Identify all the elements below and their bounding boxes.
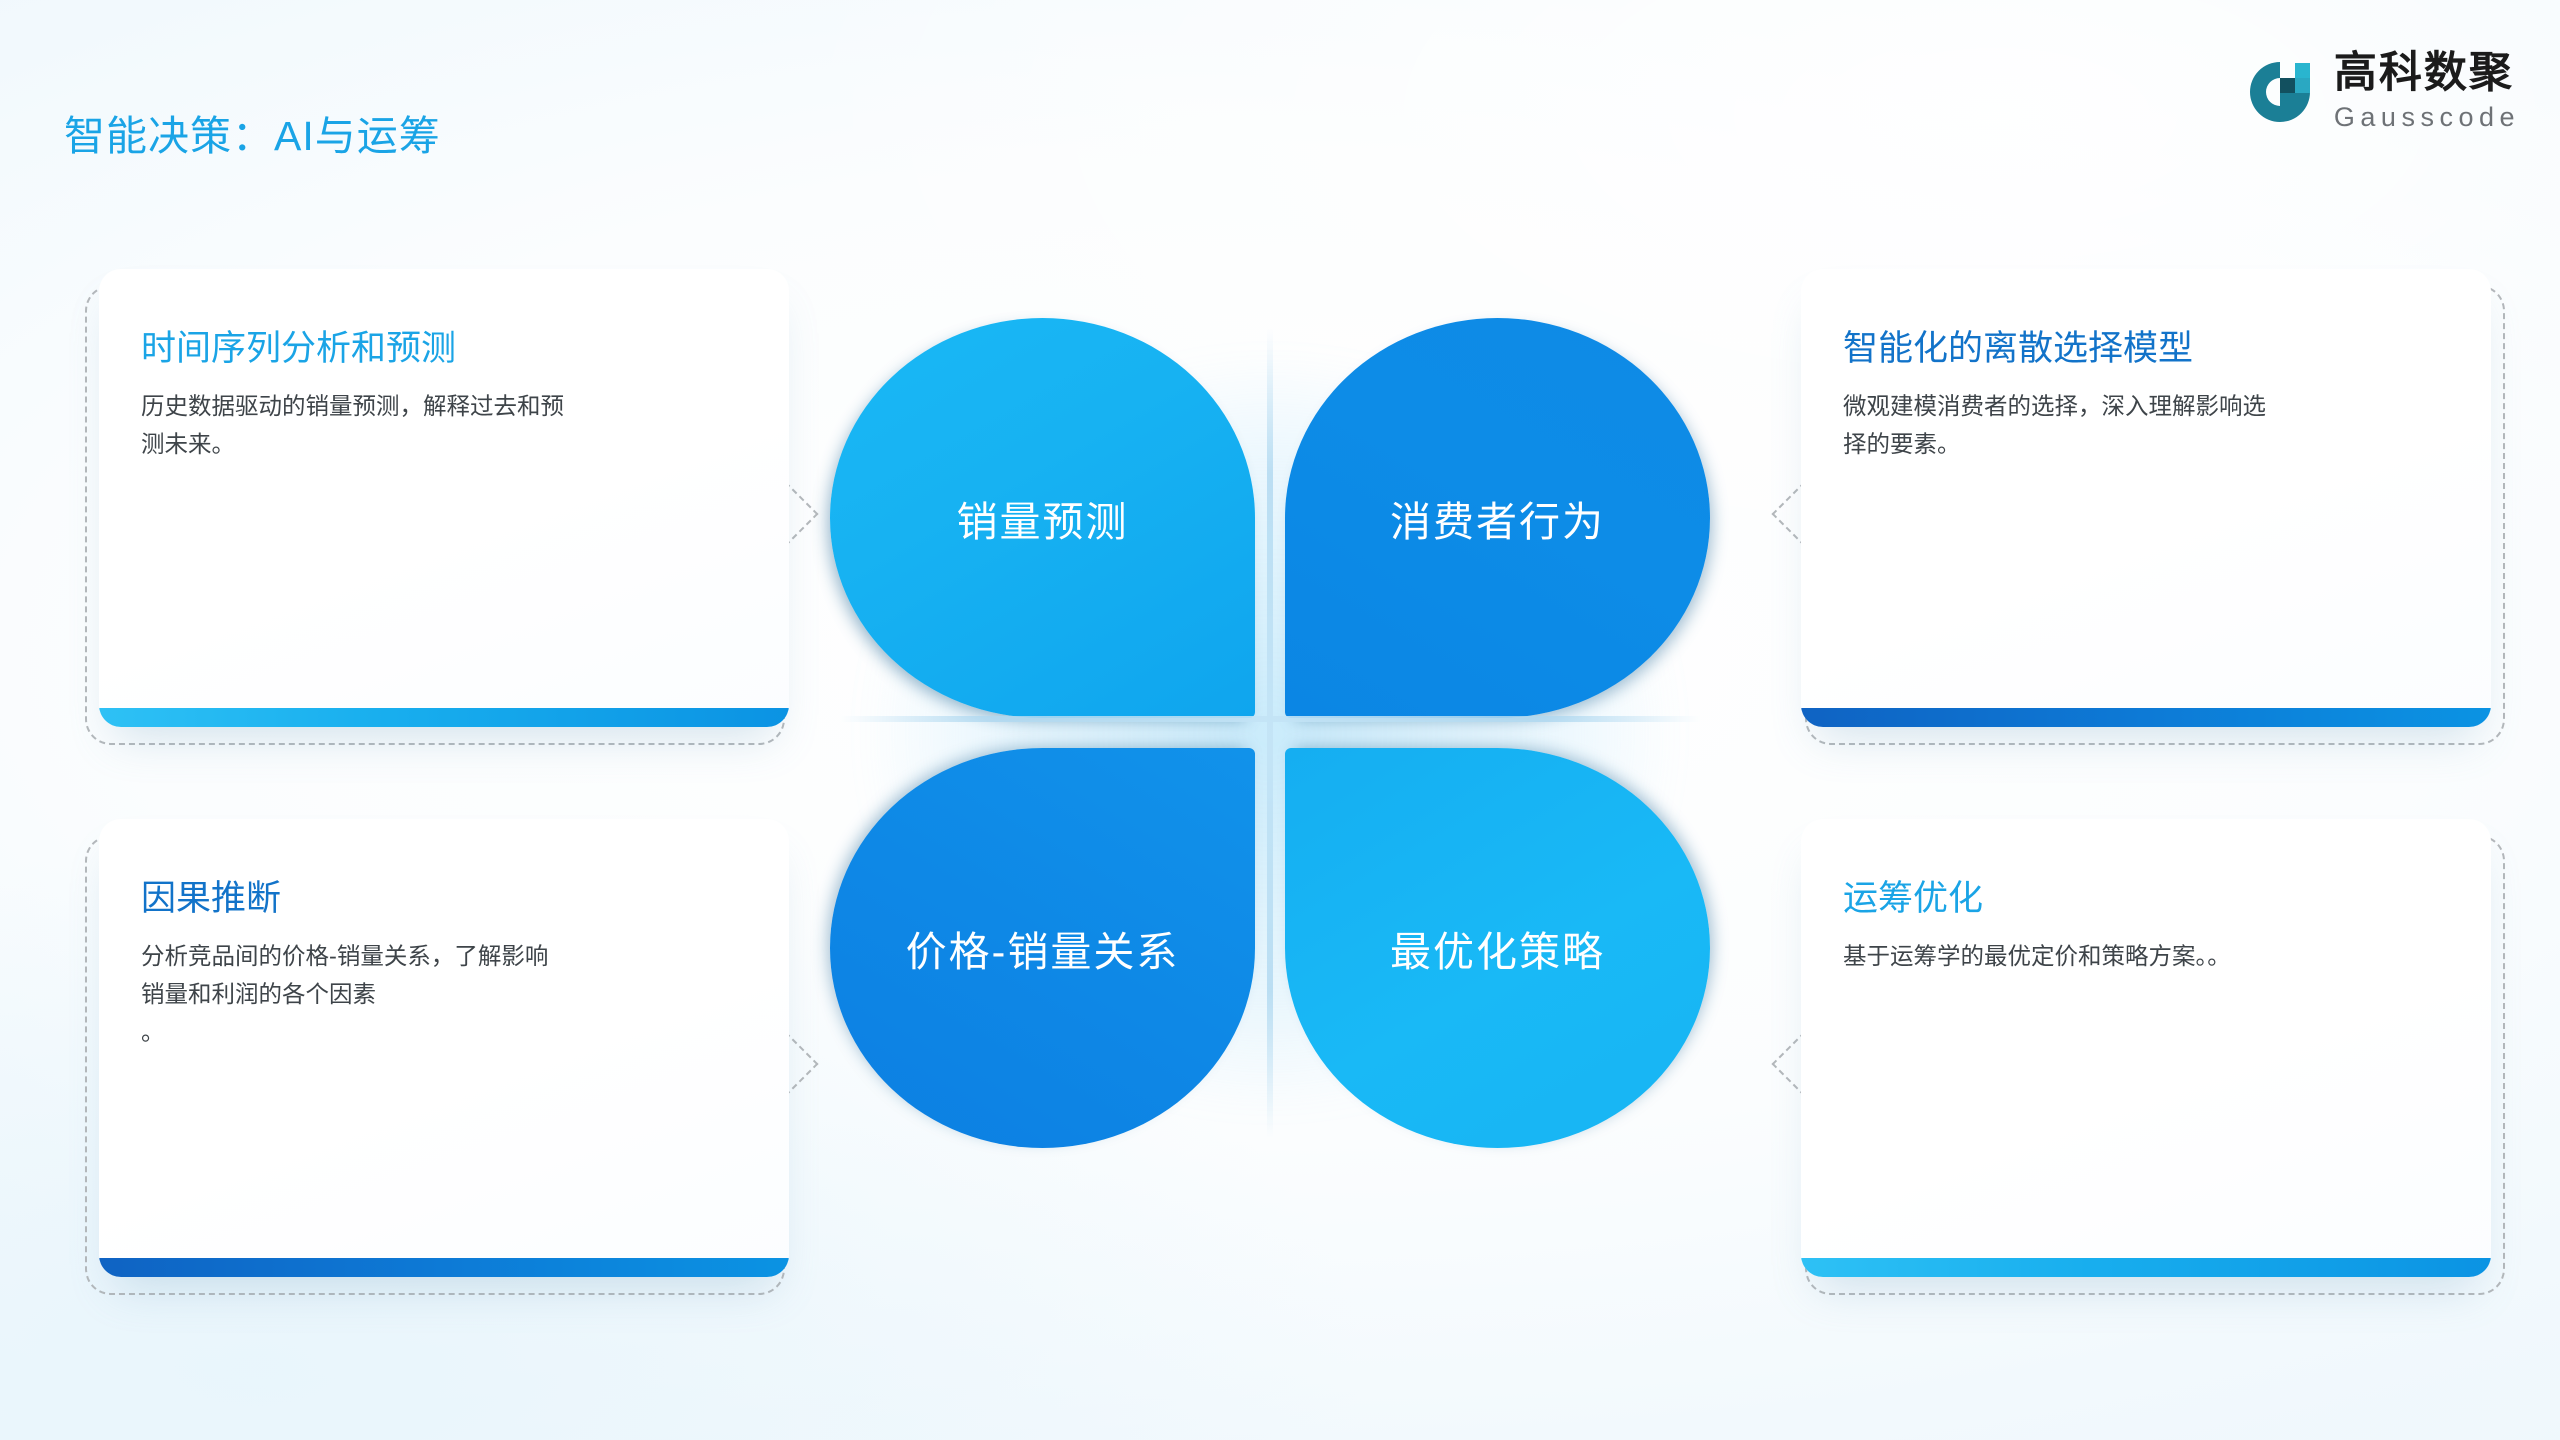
card-accent-bar	[1801, 708, 2491, 727]
brand-name-cn: 高科数聚	[2334, 52, 2520, 95]
card-description: 微观建模消费者的选择，深入理解影响选 择的要素。	[1843, 387, 2443, 463]
petal-consumer-behavior[interactable]: 消费者行为	[1285, 318, 1710, 718]
card-time-series[interactable]: 时间序列分析和预测 历史数据驱动的销量预测，解释过去和预 测未来。	[85, 285, 785, 745]
card-description: 基于运筹学的最优定价和策略方案。。	[1843, 937, 2443, 975]
card-surface: 因果推断 分析竞品间的价格-销量关系，了解影响 销量和利润的各个因素 。	[99, 819, 789, 1277]
card-surface: 时间序列分析和预测 历史数据驱动的销量预测，解释过去和预 测未来。	[99, 269, 789, 727]
card-accent-bar	[99, 1258, 789, 1277]
brand-logo: 高科数聚 Gausscode	[2244, 52, 2520, 131]
card-causal-inference[interactable]: 因果推断 分析竞品间的价格-销量关系，了解影响 销量和利润的各个因素 。	[85, 835, 785, 1295]
card-accent-bar	[99, 708, 789, 727]
card-discrete-choice[interactable]: 智能化的离散选择模型 微观建模消费者的选择，深入理解影响选 择的要素。	[1805, 285, 2505, 745]
card-title: 因果推断	[141, 877, 745, 921]
card-title: 智能化的离散选择模型	[1843, 327, 2447, 371]
card-description: 历史数据驱动的销量预测，解释过去和预 测未来。	[141, 387, 741, 463]
clover-diagram: 销量预测 消费者行为 价格-销量关系 最优化策略	[830, 318, 1710, 1148]
petal-label: 销量预测	[957, 488, 1129, 548]
card-title: 运筹优化	[1843, 877, 2447, 921]
clover-seam-horizontal	[840, 716, 1700, 722]
card-accent-bar	[1801, 1258, 2491, 1277]
petal-sales-forecast[interactable]: 销量预测	[830, 318, 1255, 718]
card-surface: 运筹优化 基于运筹学的最优定价和策略方案。。	[1801, 819, 2491, 1277]
petal-label: 消费者行为	[1390, 488, 1605, 548]
brand-name-en: Gausscode	[2334, 104, 2520, 131]
petal-label: 最优化策略	[1390, 918, 1605, 978]
card-operations-research[interactable]: 运筹优化 基于运筹学的最优定价和策略方案。。	[1805, 835, 2505, 1295]
petal-label: 价格-销量关系	[906, 918, 1180, 978]
card-title: 时间序列分析和预测	[141, 327, 745, 371]
petal-price-sales-relation[interactable]: 价格-销量关系	[830, 748, 1255, 1148]
card-surface: 智能化的离散选择模型 微观建模消费者的选择，深入理解影响选 择的要素。	[1801, 269, 2491, 727]
gausscode-logo-mark-icon	[2244, 56, 2316, 128]
card-description: 分析竞品间的价格-销量关系，了解影响 销量和利润的各个因素 。	[141, 937, 741, 1051]
petal-optimal-strategy[interactable]: 最优化策略	[1285, 748, 1710, 1148]
clover-seam-vertical	[1267, 328, 1273, 1138]
page-title: 智能决策：AI与运筹	[64, 102, 441, 162]
slide-canvas: 智能决策：AI与运筹 高科数聚 Gausscode 时间序列分析和预测 历史数据…	[0, 0, 2560, 1440]
brand-logo-text: 高科数聚 Gausscode	[2334, 52, 2520, 131]
